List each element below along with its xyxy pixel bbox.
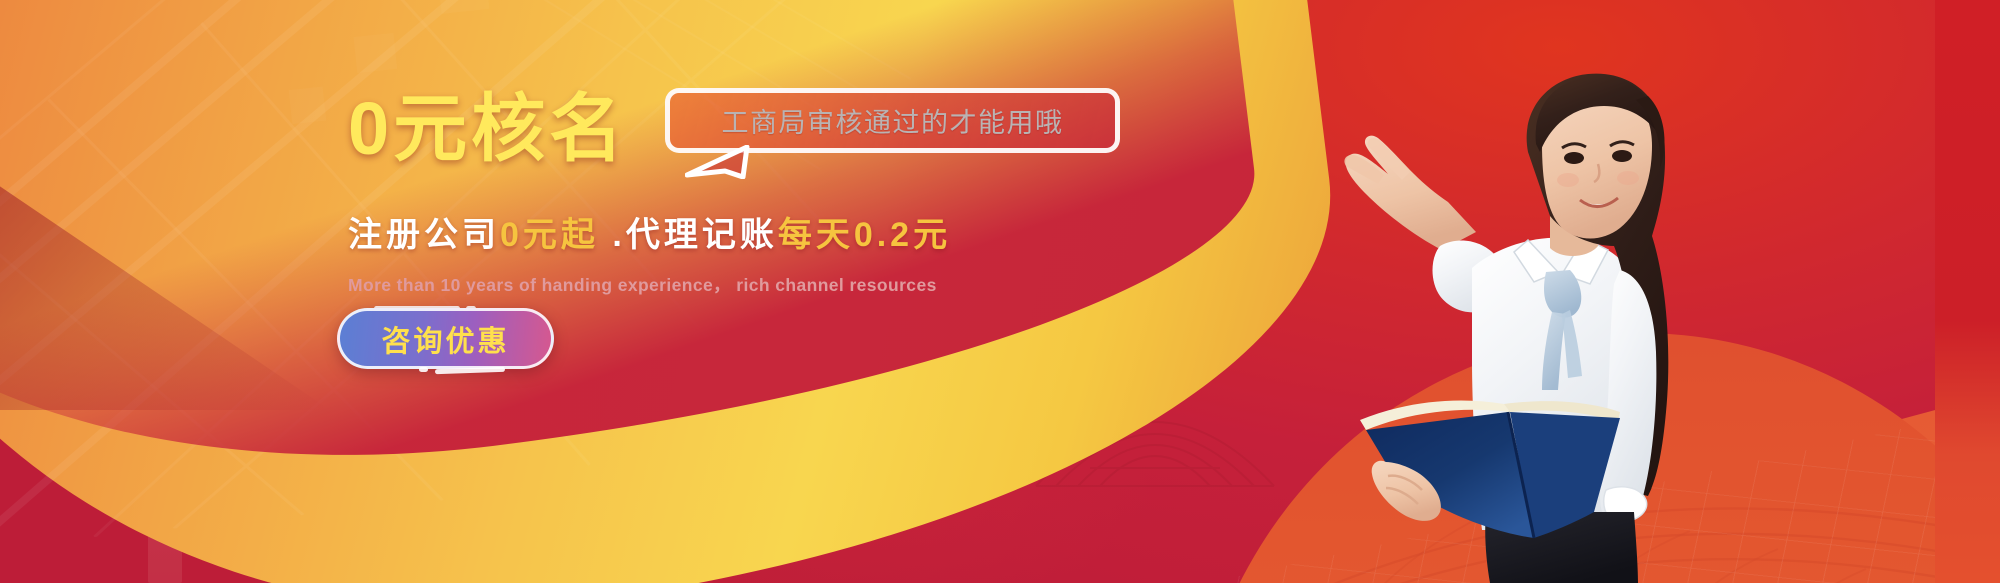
cta-decoration-dot-bottom xyxy=(419,367,428,372)
speech-bubble-text: 工商局审核通过的才能用哦 xyxy=(722,101,1064,140)
consult-offer-button[interactable]: 咨询优惠 xyxy=(337,308,554,369)
subheadline-part3: .代理记账 xyxy=(599,216,778,254)
page-title: 0元核名 xyxy=(348,92,627,166)
subheadline-highlight1: 0元起 xyxy=(500,216,599,254)
subheadline: 注册公司0元起 .代理记账每天0.2元 xyxy=(348,218,951,252)
consult-offer-button-label: 咨询优惠 xyxy=(381,318,509,360)
promo-banner: 0元核名 工商局审核通过的才能用哦 注册公司0元起 .代理记账每天0.2元 Mo… xyxy=(0,0,2000,583)
english-tagline: More than 10 years of handing experience… xyxy=(348,272,937,297)
copy-block: 0元核名 工商局审核通过的才能用哦 注册公司0元起 .代理记账每天0.2元 Mo… xyxy=(0,0,2000,583)
subheadline-highlight2: 每天0.2元 xyxy=(778,216,951,254)
subheadline-part1: 注册公司 xyxy=(348,216,500,254)
speech-bubble: 工商局审核通过的才能用哦 xyxy=(665,88,1120,153)
cta-decoration-dash-bottom xyxy=(435,367,505,374)
